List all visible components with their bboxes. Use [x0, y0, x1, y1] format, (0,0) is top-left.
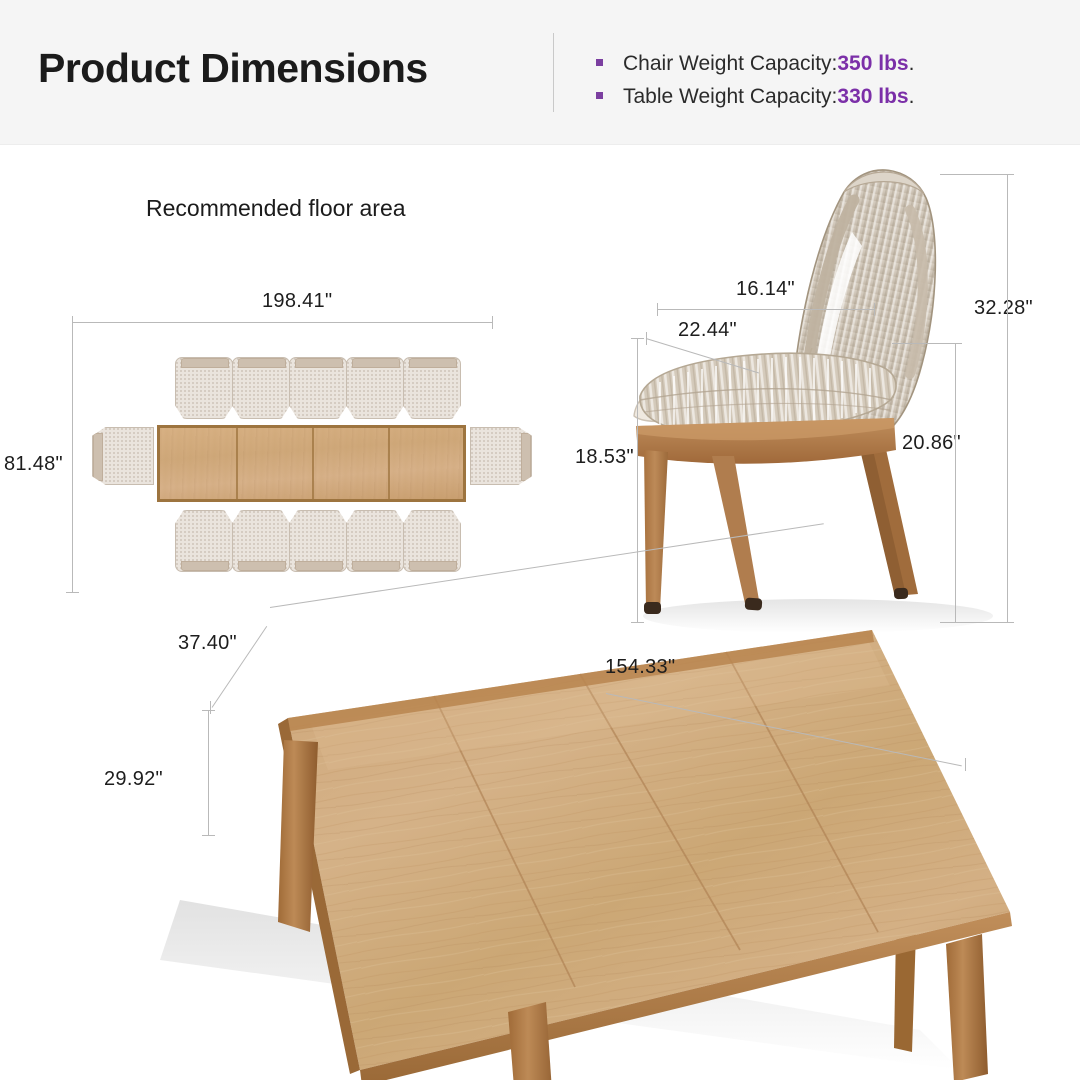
- plan-chair-top-2: [232, 357, 290, 419]
- plan-chair-back: [238, 561, 286, 571]
- chair-elevation-diagram: 16.14" 22.44" 32.28" 20.86" 18.53": [600, 150, 1080, 650]
- chair-seat-height-tick-top: [631, 338, 644, 339]
- capacity-table-suffix: .: [909, 85, 915, 109]
- plan-chair-right-end: [470, 427, 532, 485]
- plan-chair-back: [521, 433, 531, 481]
- plan-chair-bottom-1: [175, 510, 233, 572]
- table-length-tick-right: [965, 758, 966, 771]
- chair-seat-width-tick: [646, 332, 647, 345]
- chair-seat-width-label: 22.44": [678, 319, 737, 342]
- capacity-item-chair: Chair Weight Capacity: 350 lbs .: [596, 52, 1056, 76]
- header-divider: [553, 33, 554, 112]
- chair-total-height-leader-top: [940, 174, 1007, 175]
- floor-plan-diagram: 198.41" 81.48": [0, 150, 560, 620]
- plan-table-seam: [312, 428, 314, 499]
- bullet-square-icon: [596, 92, 603, 99]
- chair-seat-height-label: 18.53": [575, 446, 634, 469]
- chair-seat-frame: [636, 418, 896, 464]
- table-svg: [60, 600, 1080, 1080]
- page-title: Product Dimensions: [38, 45, 428, 92]
- chair-total-height-line: [1007, 174, 1008, 622]
- chair-total-height-label: 32.28": [974, 297, 1033, 320]
- floor-width-tick-right: [492, 316, 493, 329]
- plan-table-top: [157, 425, 466, 502]
- floor-width-dimension-line: [72, 322, 492, 323]
- chair-seat-depth-tick-left: [657, 303, 658, 316]
- table-height-tick-top: [202, 710, 215, 711]
- plan-chair-back: [409, 358, 457, 368]
- table-length-label: 154.33": [605, 656, 675, 679]
- chair-back-height-label: 20.86": [902, 432, 961, 455]
- plan-chair-back: [238, 358, 286, 368]
- floor-height-tick-bottom: [66, 592, 79, 593]
- chair-seat-height-line: [637, 338, 638, 622]
- chair-back-height-leader: [892, 343, 955, 344]
- table-height-label: 29.92": [104, 768, 163, 791]
- plan-chair-back: [352, 561, 400, 571]
- plan-chair-bottom-3: [289, 510, 347, 572]
- header-bar: Product Dimensions Chair Weight Capacity…: [0, 0, 1080, 145]
- plan-chair-bottom-4: [346, 510, 404, 572]
- plan-chair-left-end: [92, 427, 154, 485]
- plan-chair-back: [181, 358, 229, 368]
- table-depth-tick: [210, 701, 211, 714]
- chair-seat-depth-line: [657, 309, 874, 310]
- chair-svg: [600, 150, 1080, 650]
- floor-height-label: 81.48": [4, 453, 63, 476]
- capacity-chair-label: Chair Weight Capacity:: [623, 52, 837, 76]
- capacity-table-value: 330 lbs: [837, 85, 908, 109]
- plan-chair-back: [295, 561, 343, 571]
- plan-chair-bottom-5: [403, 510, 461, 572]
- plan-chair-back: [295, 358, 343, 368]
- plan-chair-top-5: [403, 357, 461, 419]
- table-height-tick-bottom: [202, 835, 215, 836]
- plan-chair-top-3: [289, 357, 347, 419]
- table-perspective-diagram: 37.40" 29.92" 154.33": [60, 600, 1080, 1080]
- capacity-table-label: Table Weight Capacity:: [623, 85, 837, 109]
- table-height-line: [208, 710, 209, 835]
- table-depth-label: 37.40": [178, 632, 237, 655]
- capacity-item-table: Table Weight Capacity: 330 lbs .: [596, 85, 1056, 109]
- capacity-chair-value: 350 lbs: [837, 52, 908, 76]
- plan-chair-back: [409, 561, 457, 571]
- chair-front-legs: [644, 450, 762, 614]
- chair-seat-depth-label: 16.14": [736, 278, 795, 301]
- bullet-square-icon: [596, 59, 603, 66]
- chair-seat-depth-tick-right: [874, 303, 875, 316]
- plan-chair-back: [352, 358, 400, 368]
- plan-chair-back: [181, 561, 229, 571]
- table-leg-front-left: [278, 740, 318, 932]
- chair-back-height-line: [955, 343, 956, 622]
- floor-height-dimension-line: [72, 322, 73, 592]
- plan-chair-bottom-2: [232, 510, 290, 572]
- plan-table-seam: [236, 428, 238, 499]
- floor-width-label: 198.41": [262, 290, 332, 313]
- plan-chair-back: [93, 433, 103, 481]
- capacity-list: Chair Weight Capacity: 350 lbs . Table W…: [596, 52, 1056, 118]
- plan-chair-top-1: [175, 357, 233, 419]
- table-leg-front-right: [946, 934, 988, 1080]
- plan-chair-top-4: [346, 357, 404, 419]
- capacity-chair-suffix: .: [909, 52, 915, 76]
- plan-table-seam: [388, 428, 390, 499]
